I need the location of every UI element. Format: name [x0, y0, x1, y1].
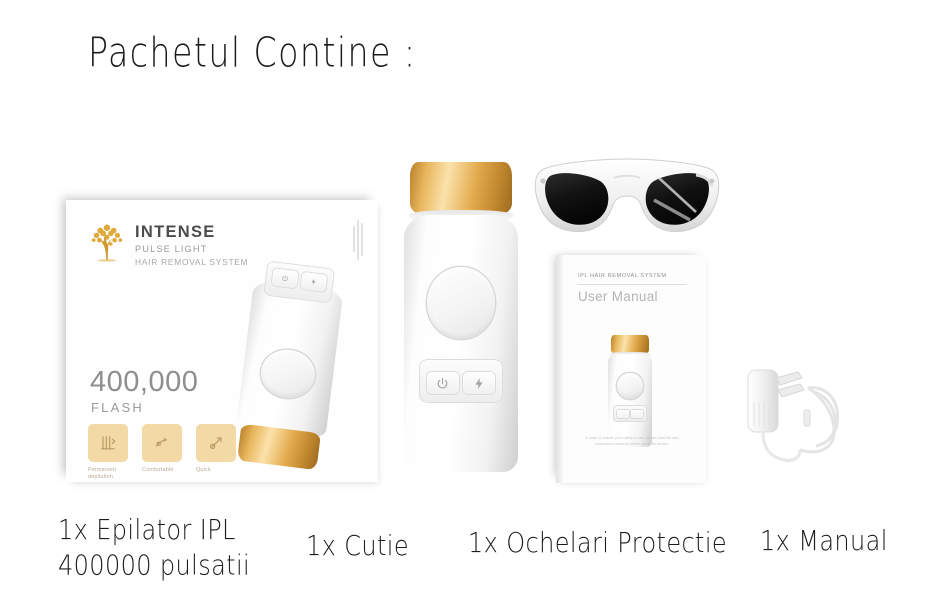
- protective-goggles: [528, 148, 726, 244]
- caption-box: 1x Cutie: [306, 528, 409, 564]
- brand-subtitle-2: HAIR REMOVAL SYSTEM: [135, 258, 248, 266]
- power-button[interactable]: [272, 269, 299, 289]
- manual-divider: [578, 284, 686, 285]
- feature-label: Quick: [196, 467, 238, 474]
- manual-subtitle: User Manual: [578, 289, 658, 304]
- power-button[interactable]: [427, 372, 459, 394]
- lcd-counter: 400000: [296, 292, 321, 295]
- manual-device-image: 400000: [607, 335, 653, 447]
- ipl-device-main: 400000: [400, 162, 522, 472]
- flash-label: FLASH: [91, 401, 144, 414]
- manual-spine: [556, 255, 563, 483]
- feature-label: Permanent depilation: [88, 467, 130, 482]
- user-manual: IPL HAIR REMOVAL SYSTEM User Manual 4000…: [556, 255, 706, 483]
- caption-epilator-line1: 1x Epilator IPL: [58, 512, 250, 548]
- device-oval-button[interactable]: [427, 267, 495, 338]
- flash-count: 400,000: [90, 368, 198, 397]
- device-body: [404, 215, 519, 472]
- permanent-depilation-icon: [88, 424, 128, 462]
- feature-list: Permanent depilation Comfortable: [88, 424, 238, 482]
- manual-fineprint: In order to ensure your safety in use, p…: [580, 435, 684, 448]
- flash-button[interactable]: [463, 372, 495, 394]
- caption-goggles: 1x Ochelari Protectie: [468, 525, 727, 561]
- caption-epilator: 1x Epilator IPL 400000 pulsatii: [58, 512, 250, 584]
- brand-block: INTENSE PULSE LIGHT HAIR REMOVAL SYSTEM: [88, 222, 248, 266]
- device-gold-cap: [410, 162, 512, 215]
- power-button[interactable]: [617, 410, 629, 418]
- device-body: [608, 354, 651, 447]
- caption-epilator-line2: 400000 pulsatii: [58, 548, 250, 584]
- device-oval-button[interactable]: [617, 373, 643, 399]
- package-contents-figure: Pachetul Contine :: [0, 0, 926, 595]
- brand-subtitle-1: PULSE LIGHT: [135, 245, 248, 254]
- comfortable-icon: [142, 424, 182, 462]
- gold-tree-logo: [88, 222, 126, 262]
- feature-comfortable: Comfortable: [142, 424, 184, 482]
- product-box-packaging: INTENSE PULSE LIGHT HAIR REMOVAL SYSTEM …: [66, 200, 378, 482]
- page-title: Pachetul Contine :: [88, 30, 417, 77]
- adapter-prong-lower: [778, 384, 804, 397]
- caption-manual: 1x Manual: [760, 523, 888, 559]
- cable-tie: [804, 410, 810, 426]
- power-adapter: [738, 358, 864, 484]
- box-device-image: 400000: [229, 243, 351, 471]
- manual-header: IPL HAIR REMOVAL SYSTEM: [578, 273, 667, 279]
- brand-name: INTENSE: [135, 224, 248, 241]
- adapter-prong-upper: [776, 372, 802, 385]
- feature-permanent-depilation: Permanent depilation: [88, 424, 130, 482]
- adapter-cable: [763, 432, 800, 460]
- feature-label: Comfortable: [142, 467, 184, 474]
- device-control-panel: 400000: [420, 360, 503, 401]
- flash-button[interactable]: [631, 410, 643, 418]
- device-gold-cap: [611, 335, 650, 354]
- device-control-panel: 400000: [614, 406, 645, 422]
- flash-button[interactable]: [300, 272, 327, 292]
